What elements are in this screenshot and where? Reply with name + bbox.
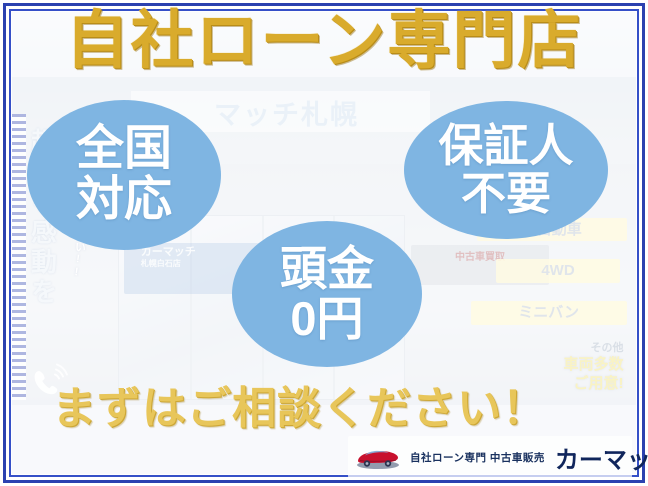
brand-logo-bar: 自社ローン専門 中古車販売 カーマッチ — [348, 436, 632, 478]
badge-zero-downpayment-line1: 頭金 — [280, 244, 374, 294]
brand-name: カーマッチ — [555, 440, 648, 475]
page-title: 自社ローン専門店 — [0, 8, 648, 74]
flyer-poster: マッチ札幌 カーマッチ 札幌白石店 中古車買取 超える感動を 合わせください!!… — [0, 0, 648, 486]
brand-tagline: 自社ローン専門 中古車販売 — [410, 450, 545, 465]
badge-nationwide-line2: 対応 — [76, 175, 172, 226]
badge-no-guarantor: 保証人 不要 — [404, 101, 608, 239]
badge-zero-downpayment: 頭金 0円 — [232, 221, 422, 367]
badge-nationwide-line1: 全国 — [76, 124, 172, 175]
badge-nationwide: 全国 対応 — [27, 100, 221, 250]
badge-zero-downpayment-line2: 0円 — [290, 294, 363, 344]
call-to-action-text: まずはご相談ください！ — [52, 372, 612, 436]
badge-no-guarantor-line2: 不要 — [461, 170, 551, 218]
car-icon — [354, 444, 402, 470]
badge-no-guarantor-line1: 保証人 — [438, 122, 573, 170]
